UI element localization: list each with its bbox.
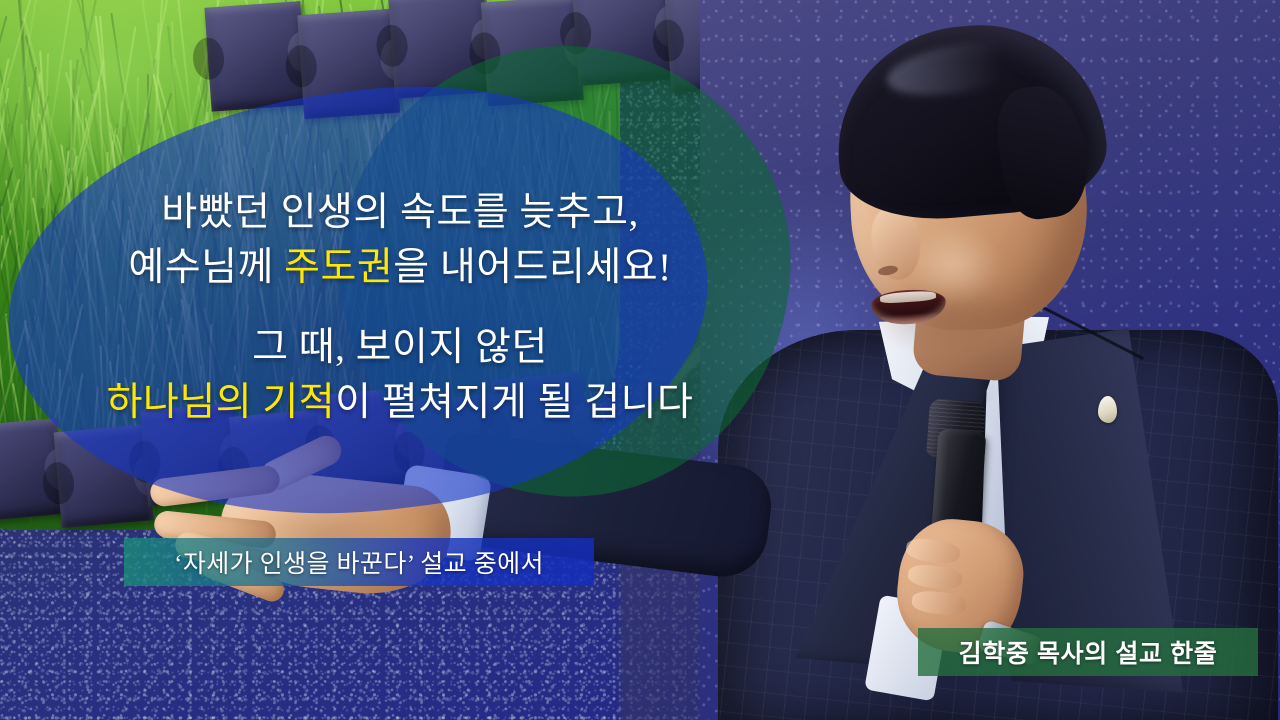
quote-line-4-highlight: 하나님의 기적 — [107, 381, 336, 424]
program-badge: 김학중 목사의 설교 한줄 — [918, 628, 1258, 676]
quote-line-2: 예수님께 주도권을 내어드리세요! — [0, 241, 800, 296]
sermon-quote-card: 바빴던 인생의 속도를 늦추고, 예수님께 주도권을 내어드리세요! 그 때, … — [0, 0, 1280, 720]
lapel-pin — [1098, 396, 1117, 423]
quote-line-gap — [0, 295, 800, 321]
quote-line-3: 그 때, 보이지 않던 — [0, 321, 800, 376]
program-badge-label: 김학중 목사의 설교 한줄 — [959, 634, 1218, 670]
quote-line-2-part-b: 을 내어드리세요! — [393, 246, 671, 289]
sermon-source-caption-label: ‘자세가 인생을 바꾼다’ 설교 중에서 — [174, 544, 544, 580]
quote-line-4: 하나님의 기적이 펼쳐지게 될 겁니다 — [0, 376, 800, 431]
quote-line-1: 바빴던 인생의 속도를 늦추고, — [0, 186, 800, 241]
sermon-source-caption: ‘자세가 인생을 바꾼다’ 설교 중에서 — [124, 538, 594, 586]
quote-line-4-part: 이 펼쳐지게 될 겁니다 — [335, 381, 693, 424]
quote-line-2-part-a: 예수님께 — [128, 246, 284, 289]
quote-line-2-highlight: 주도권 — [284, 246, 393, 289]
quote-text: 바빴던 인생의 속도를 늦추고, 예수님께 주도권을 내어드리세요! 그 때, … — [0, 186, 800, 430]
